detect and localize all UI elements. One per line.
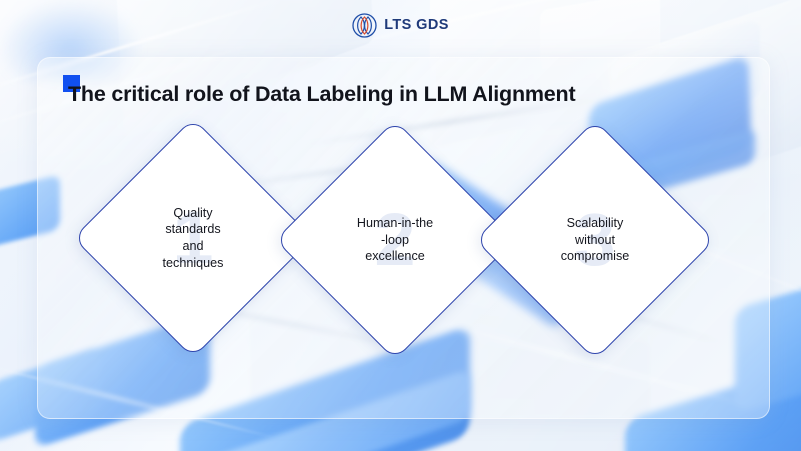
diamond-card-label: Human-in-the -loop excellence — [336, 215, 454, 265]
diamond-card-group: 1 Quality standards and techniques 2 Hum… — [0, 0, 801, 451]
diamond-card-1[interactable]: 1 Quality standards and techniques — [108, 153, 278, 323]
diamond-card-label: Scalability without compromise — [536, 215, 654, 265]
diamond-card-3[interactable]: 3 Scalability without compromise — [510, 155, 680, 325]
diamond-card-label: Quality standards and techniques — [134, 205, 252, 271]
slide-canvas: LTS GDS The critical role of Data Labeli… — [0, 0, 801, 451]
diamond-card-2[interactable]: 2 Human-in-the -loop excellence — [310, 155, 480, 325]
